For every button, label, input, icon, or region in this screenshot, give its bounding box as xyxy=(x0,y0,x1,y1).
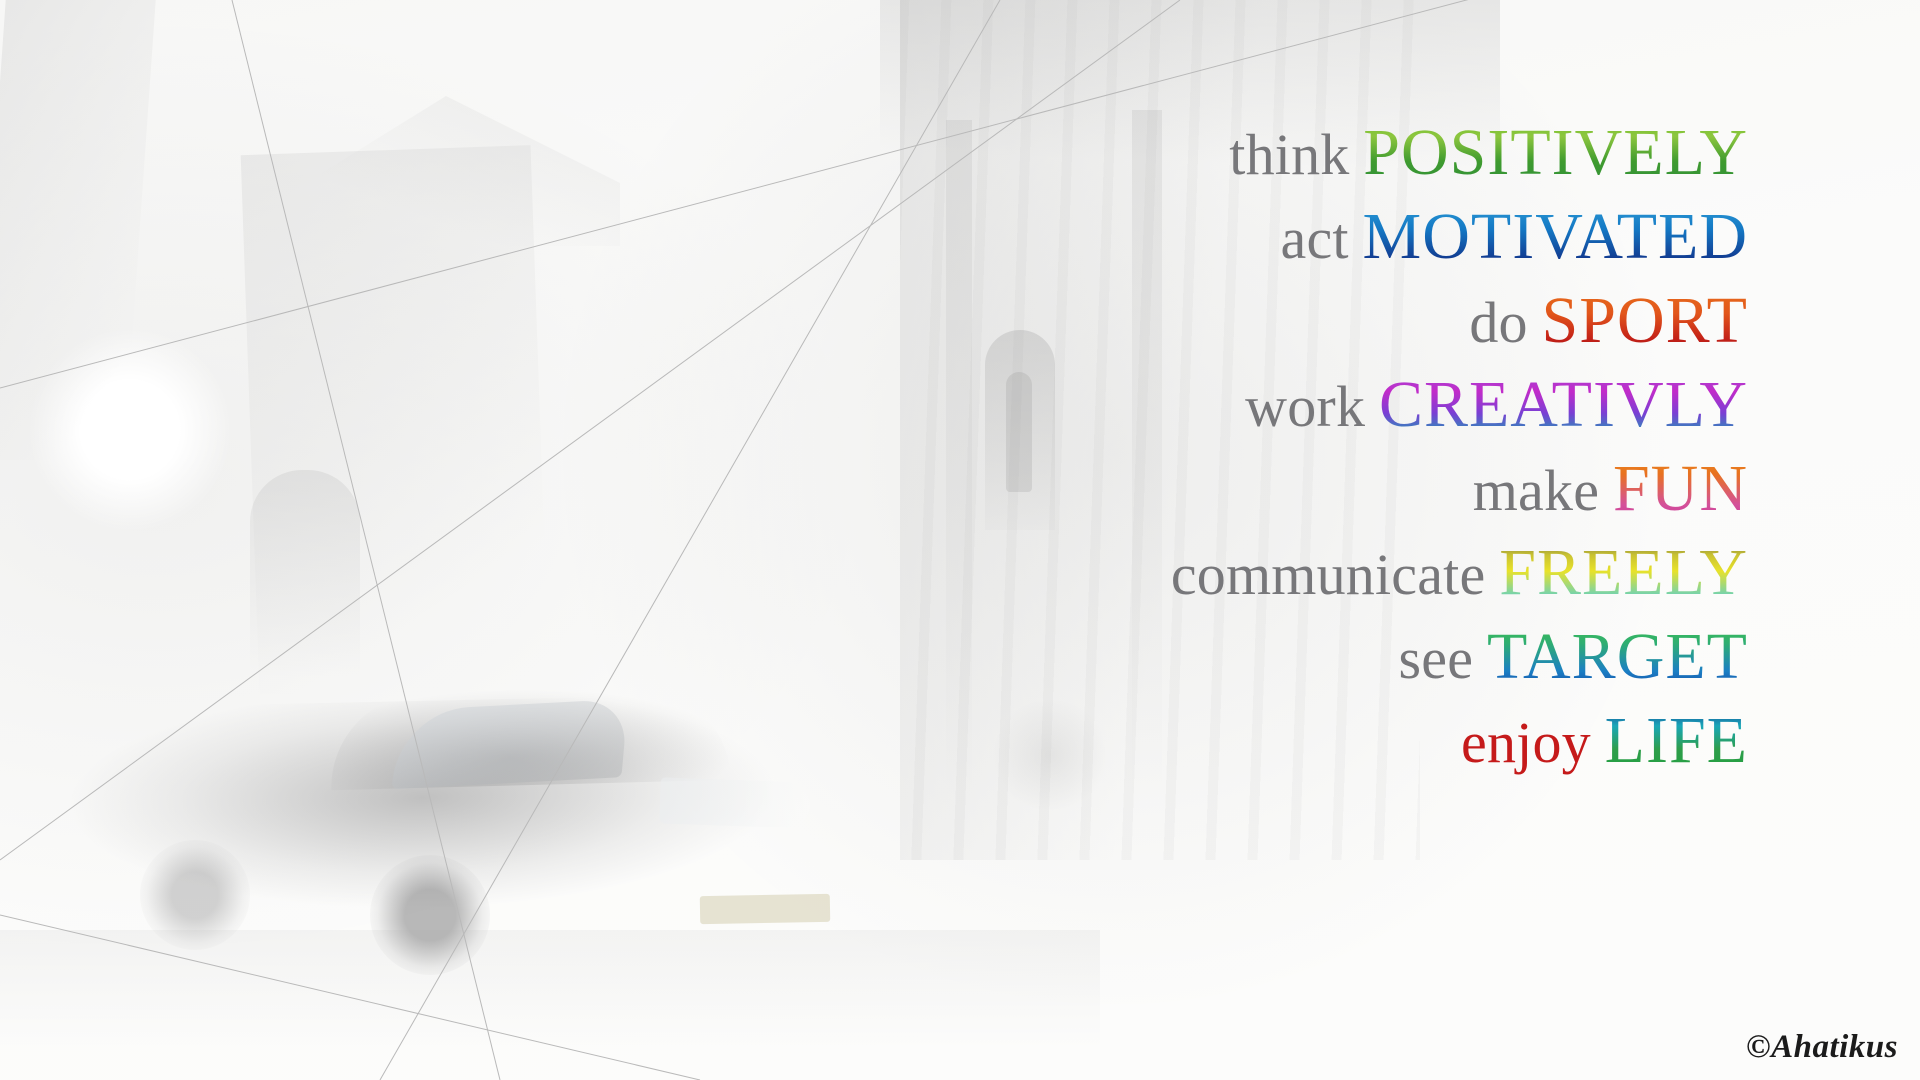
slogan-word-target: TARGET xyxy=(1485,620,1750,693)
car-windshield xyxy=(392,699,629,790)
poster-canvas: think POSITIVELY act MOTIVATED do SPORT … xyxy=(0,0,1920,1080)
car-wheel-front xyxy=(370,855,490,975)
guide-line-5 xyxy=(0,915,700,1080)
car-wheel-rear xyxy=(140,840,250,950)
slogan-line-1: think POSITIVELY xyxy=(700,120,1750,186)
slogan-verb-enjoy: enjoy xyxy=(1461,710,1603,775)
slogan-word-freely: FREELY xyxy=(1497,536,1750,609)
slogan-text-block: think POSITIVELY act MOTIVATED do SPORT … xyxy=(700,120,1750,792)
slogan-line-2: act MOTIVATED xyxy=(700,204,1750,270)
guide-line-1 xyxy=(232,0,500,1080)
slogan-verb-do: do xyxy=(1469,290,1539,355)
slogan-word-life: LIFE xyxy=(1603,704,1750,777)
building-left-secondary xyxy=(241,145,550,695)
slogan-word-fun: FUN xyxy=(1611,452,1750,525)
slogan-verb-think: think xyxy=(1229,122,1361,187)
slogan-verb-communicate: communicate xyxy=(1171,542,1497,607)
copyright-signature: ©Ahatikus xyxy=(1746,1029,1898,1066)
slogan-line-6: communicate FREELY xyxy=(700,540,1750,606)
slogan-word-motivated: MOTIVATED xyxy=(1361,200,1750,273)
ground-shadow xyxy=(0,930,1100,1080)
slogan-line-3: do SPORT xyxy=(700,288,1750,354)
slogan-verb-make: make xyxy=(1473,458,1611,523)
slogan-verb-see: see xyxy=(1399,626,1485,691)
building-roof xyxy=(320,96,620,246)
slogan-line-5: make FUN xyxy=(700,456,1750,522)
car-licence-plate xyxy=(700,894,830,924)
car-roof xyxy=(329,685,731,790)
building-doorway xyxy=(250,470,360,680)
slogan-verb-act: act xyxy=(1281,206,1361,271)
highlight-blowout xyxy=(30,330,230,530)
building-left-block xyxy=(0,0,156,460)
slogan-line-4: work CREATIVLY xyxy=(700,372,1750,438)
slogan-word-positively: POSITIVELY xyxy=(1361,116,1750,189)
slogan-line-8: enjoy LIFE xyxy=(700,708,1750,774)
slogan-line-7: see TARGET xyxy=(700,624,1750,690)
slogan-word-sport: SPORT xyxy=(1540,284,1750,357)
slogan-verb-work: work xyxy=(1245,374,1377,439)
slogan-word-creativly: CREATIVLY xyxy=(1377,368,1750,441)
